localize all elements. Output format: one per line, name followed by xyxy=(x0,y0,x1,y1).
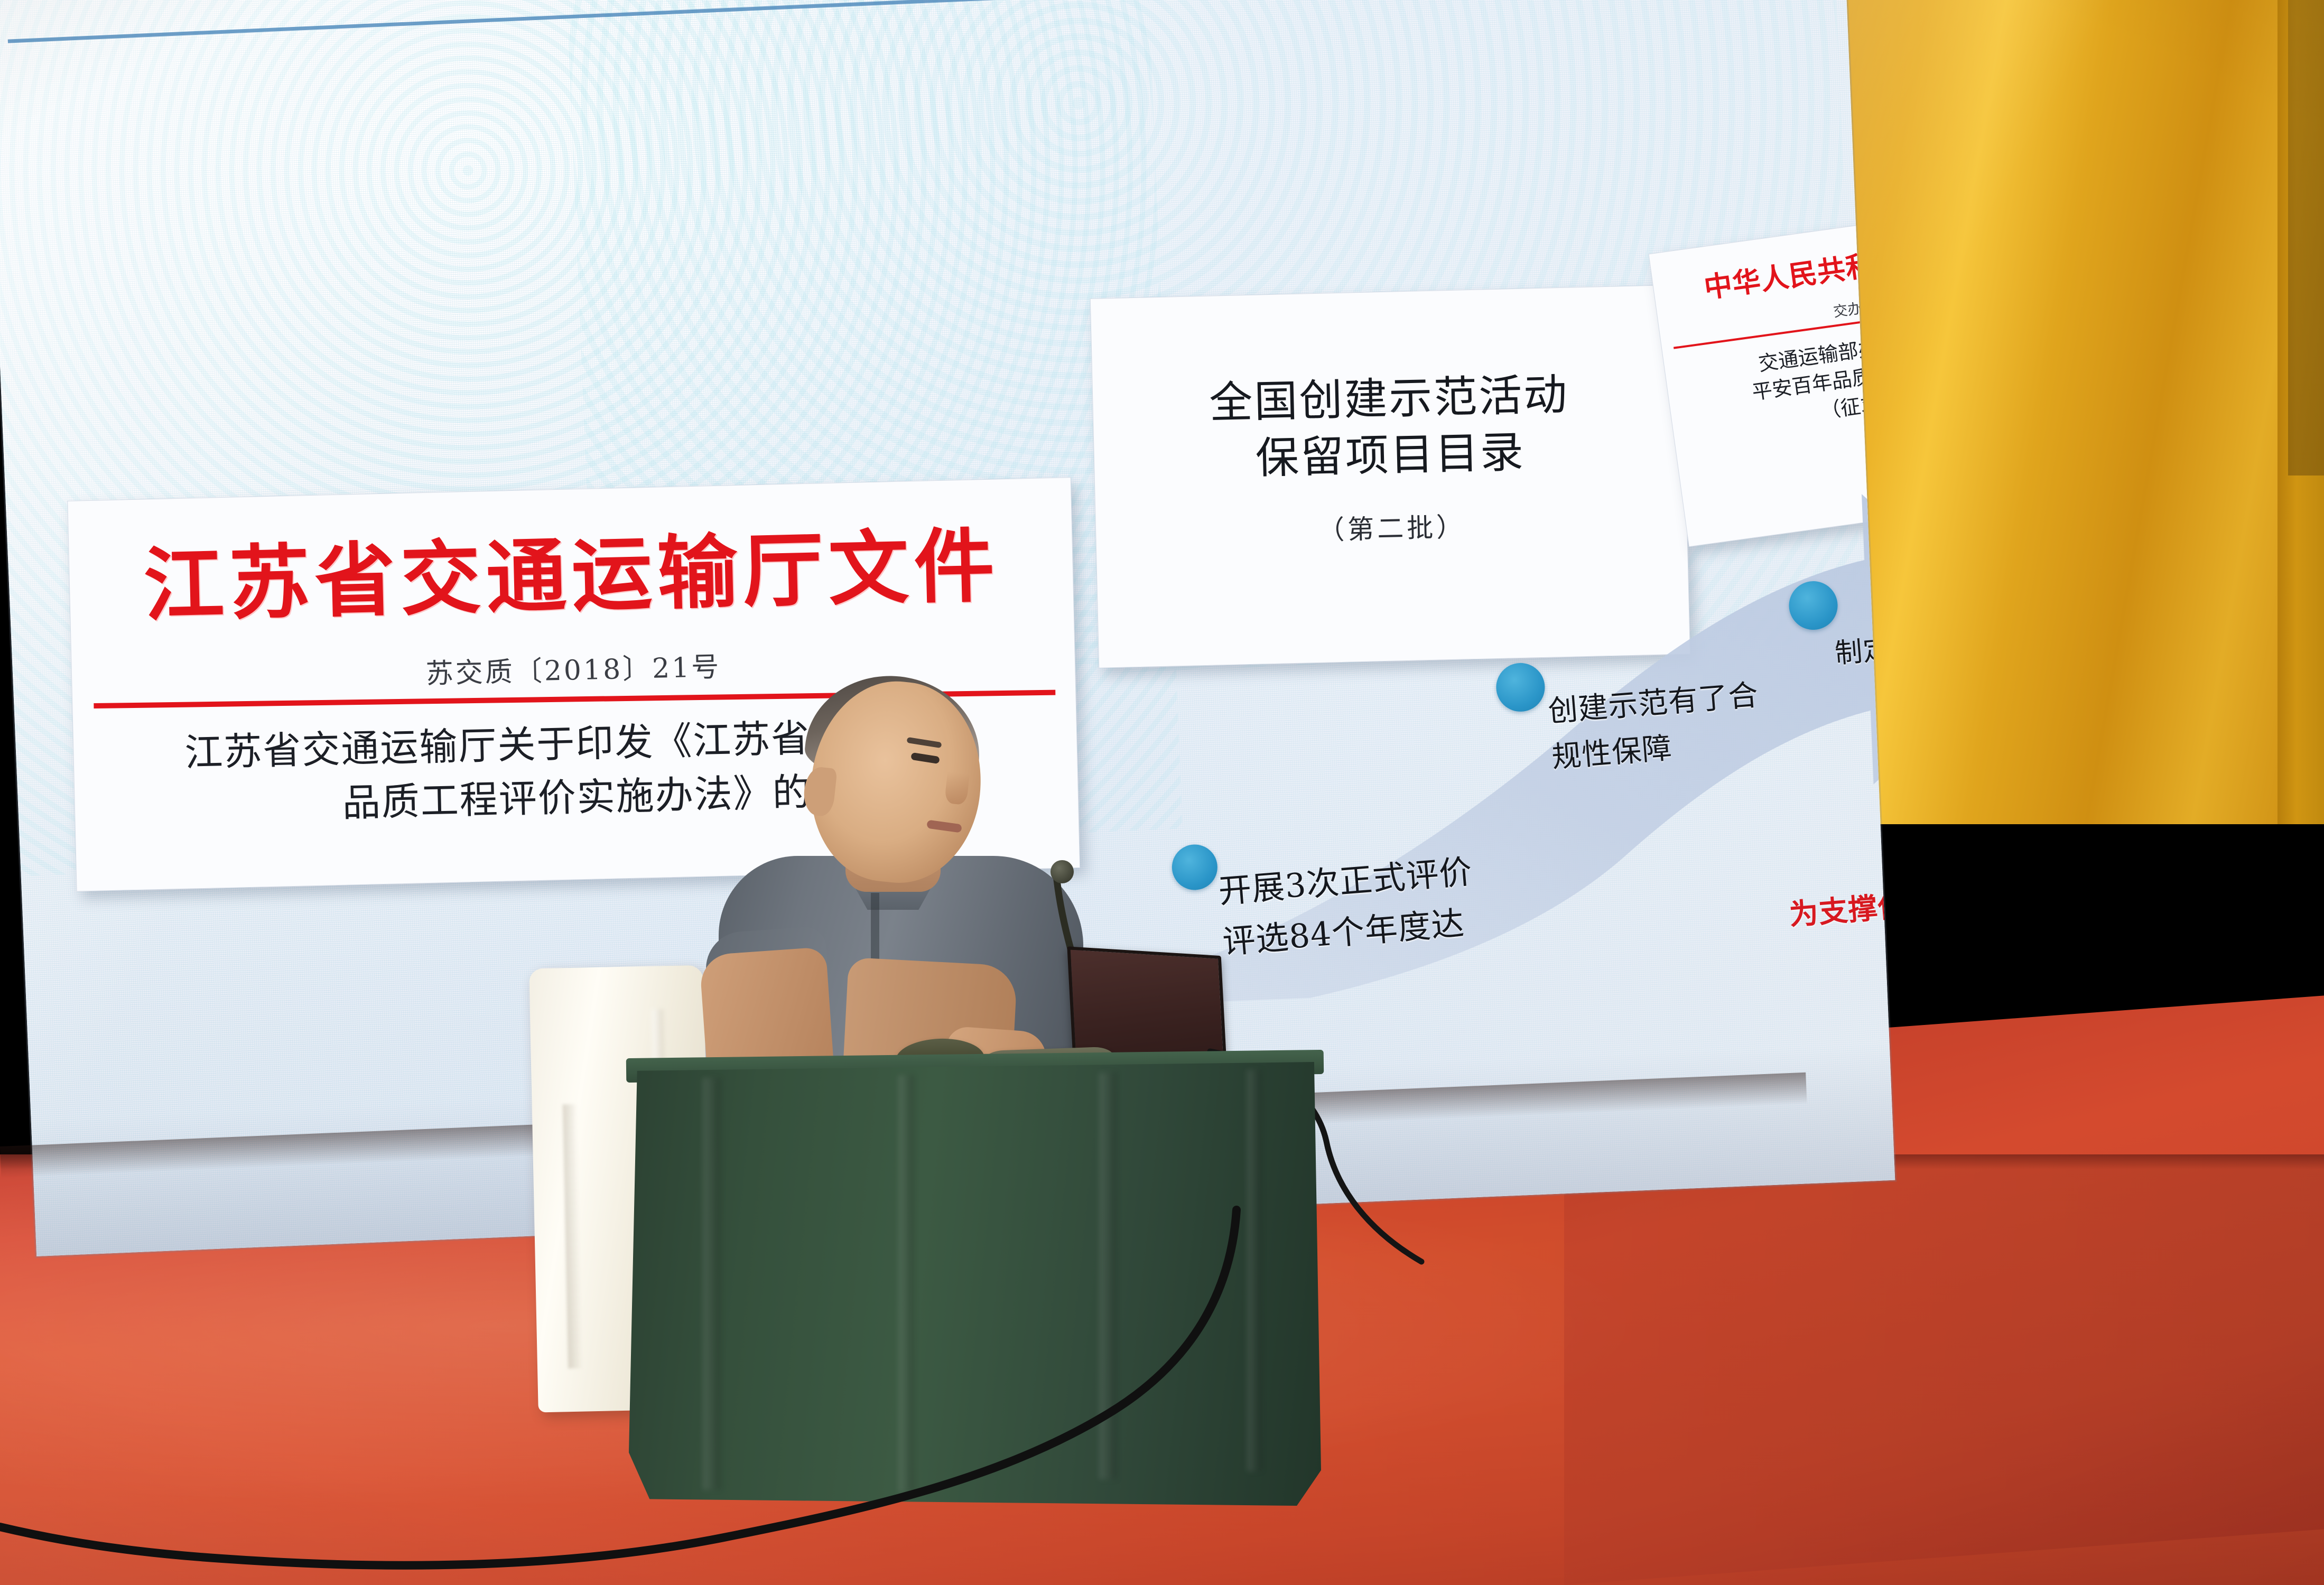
microphone-capsule xyxy=(1051,860,1074,883)
gold-wood-wall xyxy=(1807,0,2324,824)
card-left-title: 江苏省交通运输厅文件 xyxy=(105,500,1038,638)
wall-shadow-panel xyxy=(2288,0,2324,475)
conference-stage-photo: 文 江苏省交通运输厅文件 苏交质〔2018〕21号 江苏省交通运输厅关于印发《江… xyxy=(0,0,2324,1585)
floor-cable xyxy=(0,1189,1427,1585)
